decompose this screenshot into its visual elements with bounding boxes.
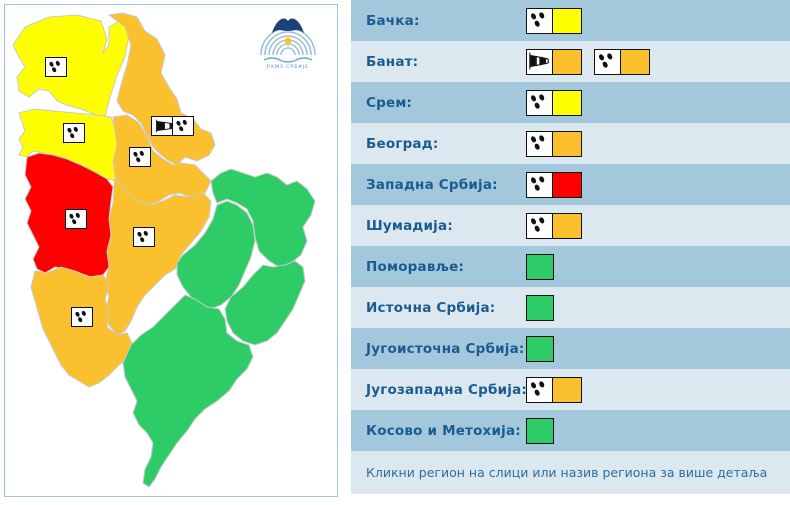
map-pictogram-rain-jugozapadna	[71, 307, 93, 327]
warning-badge-orange	[526, 131, 582, 157]
rhmz-serbia-logo: РХМЗ СРБИЈЕ	[258, 11, 318, 73]
rain-icon	[595, 50, 621, 74]
svg-text:РХМЗ СРБИЈЕ: РХМЗ СРБИЈЕ	[267, 64, 309, 70]
rain-icon	[527, 378, 553, 402]
map-pictogram-rain-srem	[63, 123, 85, 143]
table-row[interactable]: Шумадија:	[351, 205, 790, 246]
severity-swatch-green	[527, 337, 553, 361]
table-row[interactable]: Југоисточна Србија:	[351, 328, 790, 369]
region-name-label[interactable]: Београд:	[351, 136, 526, 152]
table-row[interactable]: Београд:	[351, 123, 790, 164]
region-name-label[interactable]: Косово и Метохија:	[351, 423, 526, 439]
region-name-label[interactable]: Југозападна Србија:	[351, 382, 526, 398]
map-region-backa[interactable]	[13, 15, 129, 117]
map-frame: РХМЗ СРБИЈЕ	[4, 4, 338, 497]
table-row[interactable]: Западна Србија:	[351, 164, 790, 205]
rain-icon	[527, 9, 553, 33]
map-pictogram-rain-sumadija	[133, 227, 155, 247]
serbia-warning-map[interactable]	[5, 5, 339, 498]
severity-swatch-yellow	[553, 91, 581, 115]
warning-badge-green	[526, 295, 554, 321]
severity-swatch-red	[553, 173, 581, 197]
warning-badges	[526, 213, 582, 239]
severity-swatch-orange	[553, 50, 581, 74]
warning-badges	[526, 254, 554, 280]
warning-badge-green	[526, 254, 554, 280]
warning-badge-orange	[526, 377, 582, 403]
warning-badges	[526, 377, 582, 403]
table-row[interactable]: Југозападна Србија:	[351, 369, 790, 410]
warning-badges	[526, 8, 582, 34]
region-name-label[interactable]: Шумадија:	[351, 218, 526, 234]
map-pictogram-rain-banat	[172, 116, 194, 136]
map-pictogram-rain-zapadna-srbija	[65, 209, 87, 229]
table-row[interactable]: Срем:	[351, 82, 790, 123]
region-name-label[interactable]: Југоисточна Србија:	[351, 341, 526, 357]
warning-badge-orange	[526, 213, 582, 239]
severity-swatch-yellow	[553, 9, 581, 33]
region-name-label[interactable]: Источна Србија:	[351, 300, 526, 316]
warning-badge-yellow	[526, 8, 582, 34]
severity-swatch-orange	[553, 214, 581, 238]
severity-swatch-orange	[621, 50, 649, 74]
table-row[interactable]: Банат:	[351, 41, 790, 82]
rain-icon	[527, 91, 553, 115]
warning-badge-yellow	[526, 90, 582, 116]
warning-badge-green	[526, 418, 554, 444]
severity-swatch-green	[527, 296, 553, 320]
region-name-label[interactable]: Банат:	[351, 54, 526, 70]
map-panel: РХМЗ СРБИЈЕ	[0, 0, 344, 505]
table-row[interactable]: Косово и Метохија:	[351, 410, 790, 451]
warning-badges	[526, 172, 582, 198]
warning-badge-red	[526, 172, 582, 198]
severity-swatch-green	[527, 419, 553, 443]
region-name-label[interactable]: Поморавље:	[351, 259, 526, 275]
table-row[interactable]: Бачка:	[351, 0, 790, 41]
region-rows: Бачка:Банат:Срем:Београд:Западна Србија:…	[351, 0, 790, 494]
map-pictogram-rain-backa	[45, 57, 67, 77]
warning-badges	[526, 418, 554, 444]
region-name-label[interactable]: Бачка:	[351, 13, 526, 29]
rain-icon	[527, 173, 553, 197]
table-footer: Кликни регион на слици или назив региона…	[351, 451, 790, 494]
region-name-label[interactable]: Западна Србија:	[351, 177, 526, 193]
meteo-alarm-page: РХМЗ СРБИЈЕ	[0, 0, 790, 505]
severity-swatch-green	[527, 255, 553, 279]
warning-badges	[526, 131, 582, 157]
severity-swatch-orange	[553, 378, 581, 402]
region-warning-table: Бачка:Банат:Срем:Београд:Западна Србија:…	[344, 0, 790, 505]
table-row[interactable]: Поморавље:	[351, 246, 790, 287]
map-pictogram-rain-beograd	[129, 147, 151, 167]
wind-icon	[527, 50, 553, 74]
rain-icon	[527, 214, 553, 238]
region-name-label[interactable]: Срем:	[351, 95, 526, 111]
warning-badges	[526, 90, 582, 116]
footer-hint-text: Кликни регион на слици или назив региона…	[351, 465, 767, 480]
warning-badges	[526, 295, 554, 321]
rain-icon	[527, 132, 553, 156]
warning-badge-green	[526, 336, 554, 362]
warning-badge-orange	[594, 49, 650, 75]
severity-swatch-orange	[553, 132, 581, 156]
warning-badge-orange	[526, 49, 582, 75]
warning-badges	[526, 336, 554, 362]
table-row[interactable]: Источна Србија:	[351, 287, 790, 328]
warning-badges	[526, 49, 650, 75]
